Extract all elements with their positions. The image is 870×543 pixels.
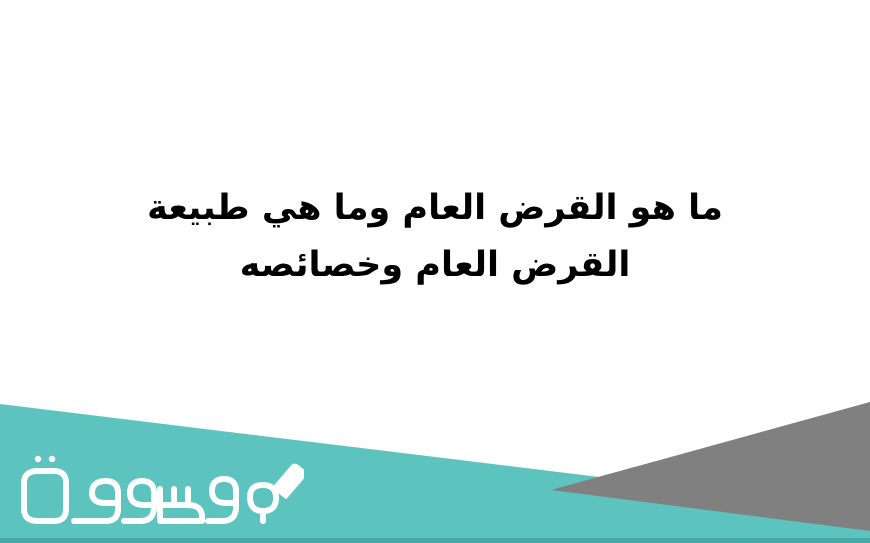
page-title-line-1: ما هو القرض العام وما هي طبيعة	[95, 180, 775, 237]
page-title-line-2: القرض العام وخصائصه	[95, 237, 775, 294]
teal-underlay	[551, 490, 870, 543]
page-title: ما هو القرض العام وما هي طبيعة القرض الع…	[95, 180, 775, 293]
promo-card: ما هو القرض العام وما هي طبيعة القرض الع…	[0, 0, 870, 543]
logo[interactable]	[14, 447, 304, 529]
logo-wordmark	[24, 456, 276, 521]
gray-wedge	[551, 402, 870, 531]
bottom-rule	[0, 538, 870, 543]
